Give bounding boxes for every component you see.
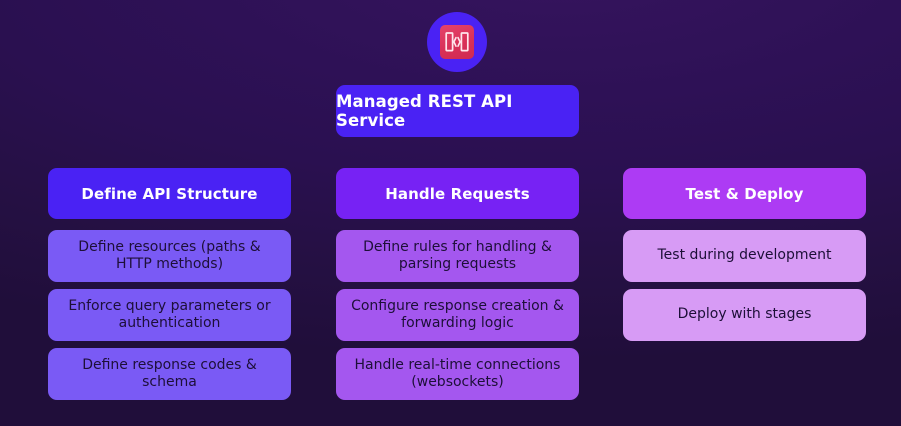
- list-item[interactable]: Deploy with stages: [623, 289, 866, 341]
- list-item[interactable]: Define rules for handling & parsing requ…: [336, 230, 579, 282]
- list-item[interactable]: Define response codes & schema: [48, 348, 291, 400]
- diagram-canvas: Managed REST API Service Define API Stru…: [0, 0, 901, 426]
- column-test-and-deploy: Test & Deploy Test during development De…: [623, 168, 866, 348]
- column-header-2[interactable]: Test & Deploy: [623, 168, 866, 219]
- api-gateway-icon: [427, 12, 487, 72]
- code-brackets-glyph: [444, 30, 470, 54]
- column-define-api-structure: Define API Structure Define resources (p…: [48, 168, 291, 407]
- page-title: Managed REST API Service: [336, 85, 579, 137]
- list-item[interactable]: Test during development: [623, 230, 866, 282]
- column-handle-requests: Handle Requests Define rules for handlin…: [336, 168, 579, 407]
- column-header-1[interactable]: Handle Requests: [336, 168, 579, 219]
- list-item[interactable]: Enforce query parameters or authenticati…: [48, 289, 291, 341]
- list-item[interactable]: Handle real-time connections (websockets…: [336, 348, 579, 400]
- api-gateway-badge: [440, 25, 474, 59]
- list-item[interactable]: Configure response creation & forwarding…: [336, 289, 579, 341]
- list-item[interactable]: Define resources (paths & HTTP methods): [48, 230, 291, 282]
- column-header-0[interactable]: Define API Structure: [48, 168, 291, 219]
